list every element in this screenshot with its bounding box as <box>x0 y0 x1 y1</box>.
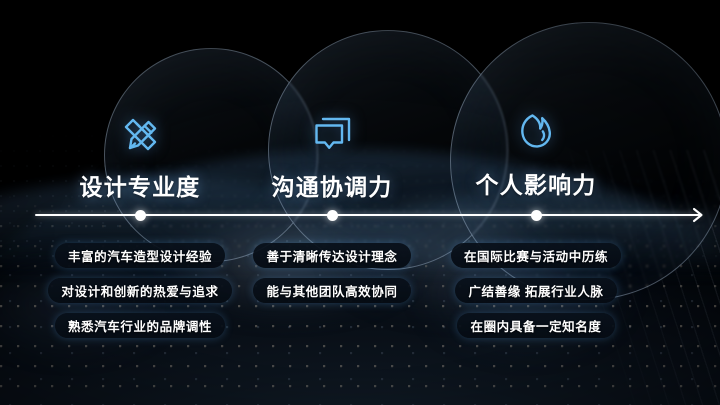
pill-item[interactable]: 在圈内具备一定知名度 <box>457 313 614 338</box>
column-heading: 沟通协调力 <box>214 168 450 202</box>
flame-icon <box>418 104 654 158</box>
timeline-marker-1 <box>135 210 146 221</box>
arrow-right-icon <box>684 206 704 224</box>
column-heading: 个人影响力 <box>418 166 654 200</box>
pill-label: 熟悉汽车行业的品牌调性 <box>68 316 212 335</box>
timeline-marker-2 <box>327 210 338 221</box>
pill-label: 在国际比赛与活动中历练 <box>464 246 608 265</box>
slide-canvas: 设计专业度 沟通协调力 个人影响力 丰富的汽车造型设计经验 <box>0 0 720 405</box>
pill-item[interactable]: 善于清晰传达设计理念 <box>253 243 410 268</box>
pill-label: 广结善缘 拓展行业人脉 <box>468 281 603 300</box>
pill-item[interactable]: 对设计和创新的热爱与追求 <box>48 278 231 303</box>
pill-label: 善于清晰传达设计理念 <box>266 246 397 265</box>
pill-label: 能与其他团队高效协同 <box>266 281 397 300</box>
timeline-marker-3 <box>531 210 542 221</box>
pill-label: 在圈内具备一定知名度 <box>470 316 601 335</box>
pill-item[interactable]: 能与其他团队高效协同 <box>253 278 410 303</box>
pill-item[interactable]: 广结善缘 拓展行业人脉 <box>455 278 616 303</box>
pill-label: 丰富的汽车造型设计经验 <box>68 246 212 265</box>
pill-item[interactable]: 丰富的汽车造型设计经验 <box>55 243 225 268</box>
pill-item[interactable]: 熟悉汽车行业的品牌调性 <box>55 313 225 338</box>
pill-item[interactable]: 在国际比赛与活动中历练 <box>451 243 621 268</box>
pill-list-personal-influence: 在国际比赛与活动中历练 广结善缘 拓展行业人脉 在圈内具备一定知名度 <box>418 243 654 338</box>
chat-bubbles-icon <box>214 106 450 158</box>
pill-list-communication: 善于清晰传达设计理念 能与其他团队高效协同 <box>214 243 450 303</box>
pill-label: 对设计和创新的热爱与追求 <box>61 281 218 300</box>
